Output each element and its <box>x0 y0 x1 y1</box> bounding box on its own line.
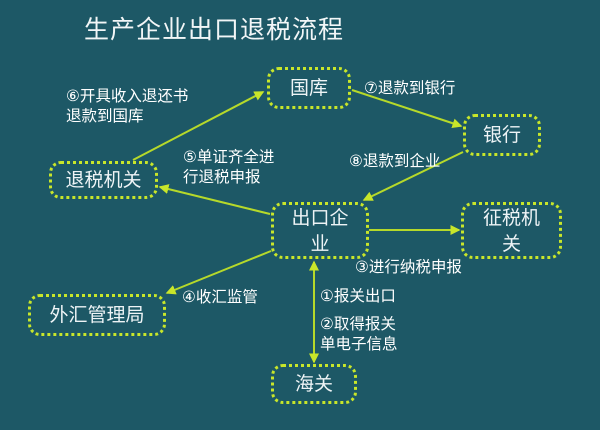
edge-label-step-3: ③进行纳税申报 <box>355 257 462 277</box>
node-bank-label: 银行 <box>483 122 521 148</box>
edge-label-step-6: ⑥开具收入退还书 退款到国库 <box>66 86 188 126</box>
node-forex-bureau[interactable]: 外汇管理局 <box>28 294 166 336</box>
edge-label-step-2: ②取得报关 单电子信息 <box>320 314 398 354</box>
node-refund-authority[interactable]: 退税机关 <box>49 161 158 199</box>
edge-label-step-1: ①报关出口 <box>320 286 396 306</box>
node-export-enterprise[interactable]: 出口企业 <box>271 202 369 259</box>
node-treasury-label: 国库 <box>290 75 328 101</box>
node-forex-bureau-label: 外汇管理局 <box>49 302 144 328</box>
edge-label-step-5: ⑤单证齐全进 行退税申报 <box>183 147 274 187</box>
node-customs-label: 海关 <box>295 371 333 397</box>
node-customs[interactable]: 海关 <box>271 364 357 404</box>
edge-label-step-8: ⑧退款到企业 <box>349 151 440 171</box>
node-bank[interactable]: 银行 <box>463 114 541 156</box>
node-refund-authority-label: 退税机关 <box>65 167 141 193</box>
node-tax-authority-label: 征税机关 <box>480 205 544 257</box>
edge-export-enterprise-to-refund-authority <box>160 187 270 214</box>
node-export-enterprise-label: 出口企业 <box>289 205 351 257</box>
node-treasury[interactable]: 国库 <box>267 67 351 109</box>
page-title: 生产企业出口退税流程 <box>84 14 344 46</box>
diagram-canvas: 生产企业出口退税流程 国库 银行 退税机关 <box>0 0 600 430</box>
edge-label-step-7: ⑦退款到银行 <box>364 78 455 98</box>
edge-label-step-4: ④收汇监管 <box>182 287 258 307</box>
node-tax-authority[interactable]: 征税机关 <box>461 202 562 259</box>
